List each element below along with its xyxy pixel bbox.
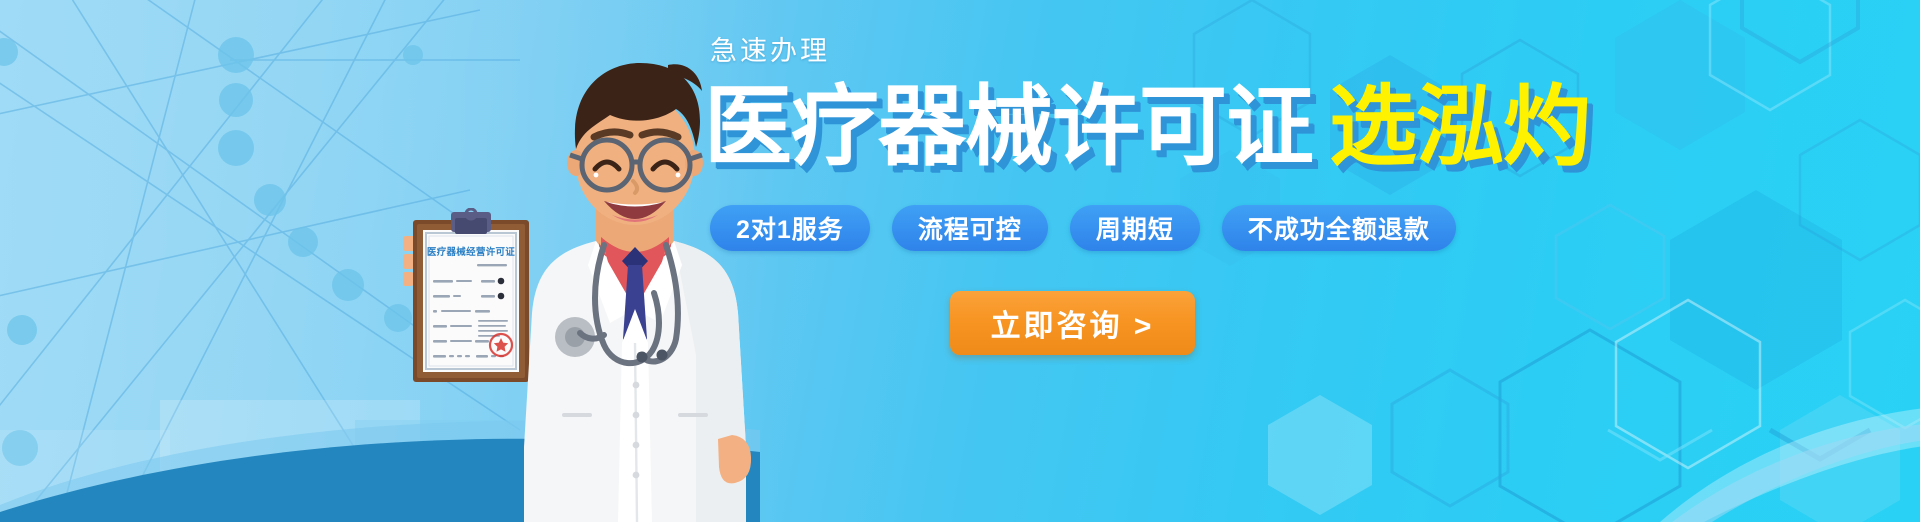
copy-block: 急速办理 医疗器械许可证选泓灼 2对1服务 流程可控 周期短 不成功全额退款 立… [710,38,1670,468]
feature-pill-4[interactable]: 不成功全额退款 [1222,205,1456,251]
feature-pill-3[interactable]: 周期短 [1070,205,1200,251]
headline-primary: 医疗器械许可证 [704,77,1313,176]
consult-now-button[interactable]: 立即咨询 > [950,291,1195,355]
eyebrow-text: 急速办理 [710,38,1670,65]
feature-pill-2[interactable]: 流程可控 [892,205,1048,251]
headline-highlight: 选泓灼 [1329,77,1590,176]
cta-container: 立即咨询 > [710,291,1670,355]
headline: 医疗器械许可证选泓灼 [704,83,1670,171]
feature-pill-1[interactable]: 2对1服务 [710,205,870,251]
feature-pill-list: 2对1服务 流程可控 周期短 不成功全额退款 [710,205,1670,251]
promo-banner: 医疗器械经营许可证 [0,0,1920,522]
